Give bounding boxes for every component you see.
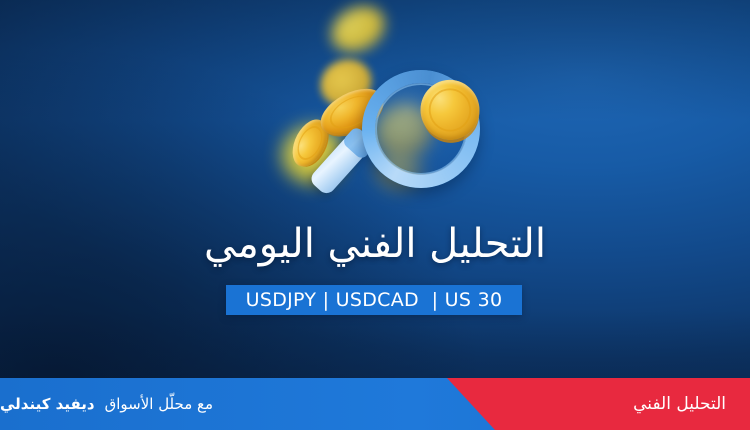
page-title: التحليل الفني اليومي bbox=[0, 222, 750, 267]
footer-presenter: مع محلّل الأسواق ديفيد كيندلي bbox=[0, 378, 300, 430]
footer-bar: مع محلّل الأسواق ديفيد كيندلي التحليل ال… bbox=[0, 378, 750, 430]
footer-category-label: التحليل الفني bbox=[633, 378, 726, 430]
footer-presenter-name: ديفيد كيندلي bbox=[0, 395, 95, 413]
promo-banner: التحليل الفني اليومي USDJPY | USDCAD | U… bbox=[0, 0, 750, 430]
status-badge: USDJPY | USDCAD | US 30 bbox=[226, 285, 522, 315]
gold-coin-blurred-top-icon bbox=[323, 0, 392, 61]
footer-presenter-prefix: مع محلّل الأسواق bbox=[105, 395, 213, 413]
ticker-symbols-label: USDJPY | USDCAD | US 30 bbox=[246, 289, 503, 311]
magnifying-glass-illustration bbox=[268, 0, 518, 215]
